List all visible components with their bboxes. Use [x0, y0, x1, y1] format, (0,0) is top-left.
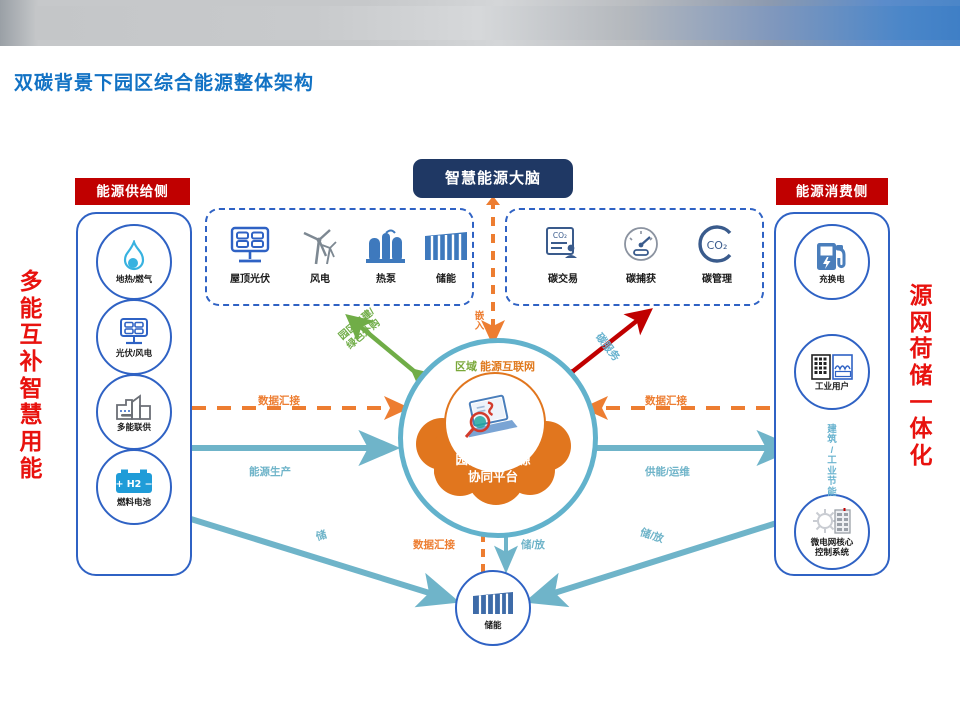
green-group-item-rooftop-pv[interactable]: 屋顶光伏	[219, 224, 281, 285]
supply-item-geothermal-gas[interactable]: 地热/燃气	[96, 224, 172, 300]
consume-side-header: 能源消费侧	[776, 178, 888, 205]
supply-item-label: 地热/燃气	[116, 275, 152, 284]
ring-label-part1: 区域	[455, 361, 477, 373]
green-group-item-storage[interactable]: 储能	[415, 224, 477, 285]
supply-item-label: 多能联供	[117, 423, 151, 432]
storage-node-label: 储能	[484, 621, 501, 630]
consume-item-industrial-user[interactable]: 工业用户	[794, 334, 870, 410]
container-storage-icon	[469, 586, 517, 620]
ev-charger-icon	[814, 240, 850, 274]
consume-item-label-line1: 微电网核心	[811, 538, 854, 547]
solar-panel-icon	[227, 224, 273, 268]
svg-text:CO₂: CO₂	[707, 239, 728, 252]
green-group-item-label: 屋顶光伏	[230, 270, 270, 285]
supply-item-pv-wind[interactable]: 光伏/风电	[96, 299, 172, 375]
carbon-group-item-management[interactable]: CO₂ 碳管理	[685, 224, 749, 285]
supply-item-fuel-cell[interactable]: + H2 − 燃料电池	[96, 449, 172, 525]
consume-item-microgrid-control[interactable]: 微电网核心 控制系统	[794, 494, 870, 570]
carbon-group-item-label: 碳管理	[702, 270, 732, 285]
battery-h2-icon: + H2 −	[113, 467, 155, 497]
carbon-group-box: CO₂ 碳交易 碳捕获 CO₂	[505, 208, 764, 306]
laptop-search-icon	[458, 392, 528, 452]
co2-contract-icon: CO₂	[540, 224, 586, 268]
carbon-group-item-trading[interactable]: CO₂ 碳交易	[531, 224, 595, 285]
green-group-item-wind[interactable]: 风电	[289, 224, 351, 285]
label-data-link-right: 数据汇接	[645, 393, 687, 408]
supply-side-header: 能源供给侧	[75, 178, 190, 205]
svg-text:CO₂: CO₂	[553, 231, 567, 240]
right-vertical-slogan: 源网荷储一体化	[908, 282, 934, 469]
storage-node[interactable]: 储能	[455, 570, 531, 646]
supply-item-label: 光伏/风电	[116, 349, 152, 358]
factory-icon	[114, 392, 154, 422]
building-saving-label: 建筑/工业节能	[824, 425, 840, 498]
carbon-group-item-capture[interactable]: 碳捕获	[609, 224, 673, 285]
label-supply-ops: 供能/运维	[645, 464, 690, 479]
container-storage-icon	[421, 224, 471, 268]
platform-name-line2: 协同平台	[418, 469, 568, 486]
consume-item-label: 工业用户	[815, 382, 849, 391]
heat-pump-icon	[363, 224, 409, 268]
green-energy-group-box: 屋顶光伏 风电 热泵	[205, 208, 474, 306]
consume-item-ev-charging[interactable]: 充换电	[794, 224, 870, 300]
platform-name-line1: 园区综合能源	[418, 452, 568, 469]
label-data-link-left: 数据汇接	[258, 393, 300, 408]
green-group-item-label: 热泵	[376, 270, 396, 285]
svg-text:+ H2 −: + H2 −	[115, 479, 152, 490]
label-store-discharge-center: 储/放	[521, 537, 545, 552]
solar-panel-icon	[117, 316, 151, 348]
green-group-item-label: 风电	[310, 270, 330, 285]
building-factory-icon	[810, 353, 854, 381]
label-data-link-bottom: 数据汇接	[413, 537, 455, 552]
left-vertical-slogan: 多能互补智慧用能	[18, 268, 44, 481]
label-embed: 嵌入	[474, 312, 485, 332]
smart-energy-brain-box[interactable]: 智慧能源大脑	[413, 159, 573, 198]
consume-item-label-line2: 控制系统	[815, 548, 849, 557]
regional-energy-internet-label: 区域 能源互联网	[430, 358, 560, 374]
label-energy-production: 能源生产	[249, 464, 291, 479]
green-group-item-label: 储能	[436, 270, 456, 285]
wind-turbine-icon	[297, 224, 343, 268]
gauge-icon	[618, 224, 664, 268]
gear-server-icon	[810, 507, 854, 537]
co2-circle-icon: CO₂	[692, 224, 742, 268]
supply-item-label: 燃料电池	[117, 498, 151, 507]
ring-label-part2: 能源互联网	[480, 361, 535, 373]
consume-item-label: 充换电	[819, 275, 845, 284]
green-group-item-heat-pump[interactable]: 热泵	[355, 224, 417, 285]
supply-item-multi-energy[interactable]: 多能联供	[96, 374, 172, 450]
platform-name: 园区综合能源 协同平台	[418, 452, 568, 486]
carbon-group-item-label: 碳交易	[548, 270, 578, 285]
carbon-group-item-label: 碳捕获	[626, 270, 656, 285]
diagram-canvas: 双碳背景下园区综合能源整体架构	[0, 0, 960, 720]
flame-icon	[119, 240, 149, 274]
